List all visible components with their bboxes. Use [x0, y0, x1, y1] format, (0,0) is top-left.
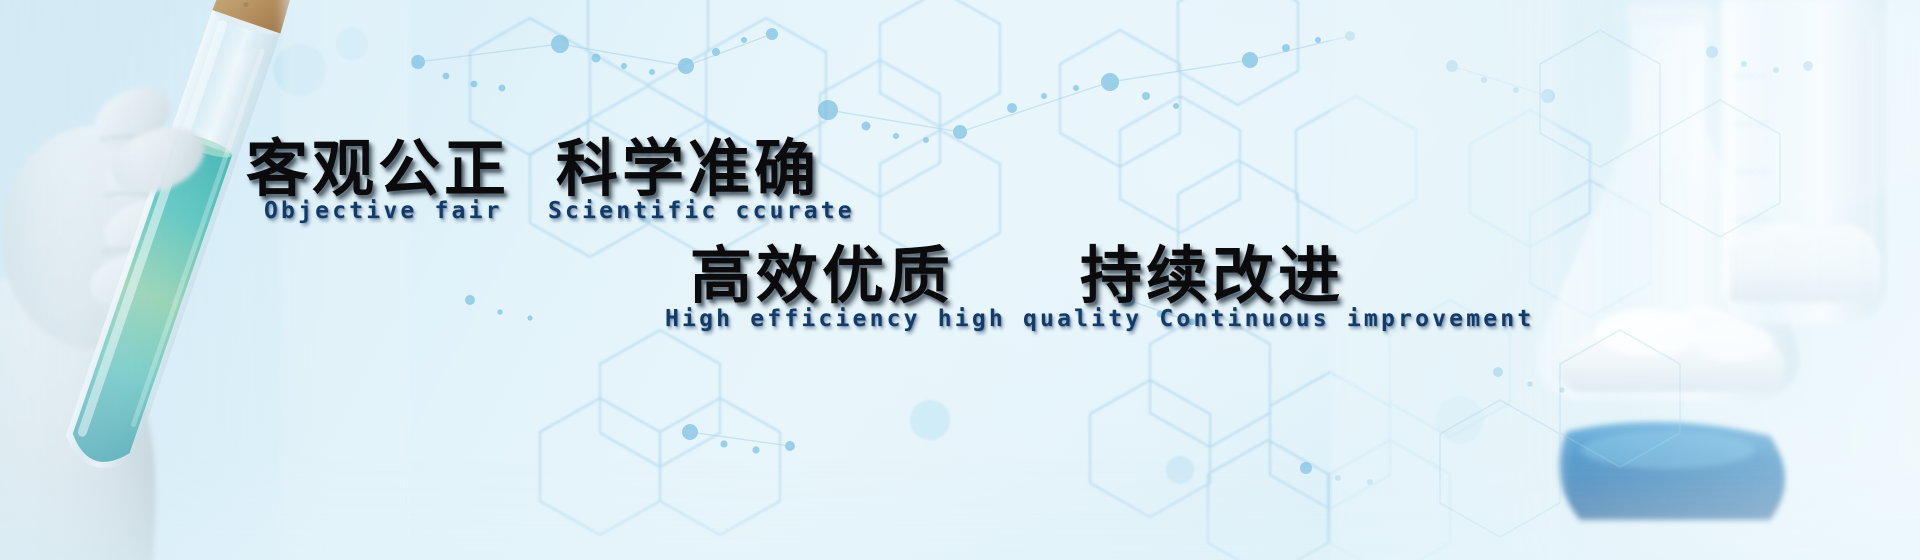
- slogan-english-scientific-accurate: Scientific ccurate: [548, 200, 855, 223]
- slogan-chinese-objective-fair: 客观公正: [246, 138, 510, 200]
- slogan-english-bottom-line: High efficiency high quality Continuous …: [665, 308, 1534, 331]
- slogan-chinese-scientific-accurate: 科学准确: [556, 138, 820, 200]
- hero-banner: 客观公正 科学准确 Objective fair Scientific ccur…: [0, 0, 1920, 560]
- slogan-chinese-continuous-improvement: 持续改进: [1080, 245, 1344, 307]
- slogan-english-objective-fair: Objective fair: [264, 200, 503, 223]
- slogan-chinese-high-efficiency-high-quality: 高效优质: [690, 245, 954, 307]
- slogan-text-group: 客观公正 科学准确 Objective fair Scientific ccur…: [0, 0, 1920, 560]
